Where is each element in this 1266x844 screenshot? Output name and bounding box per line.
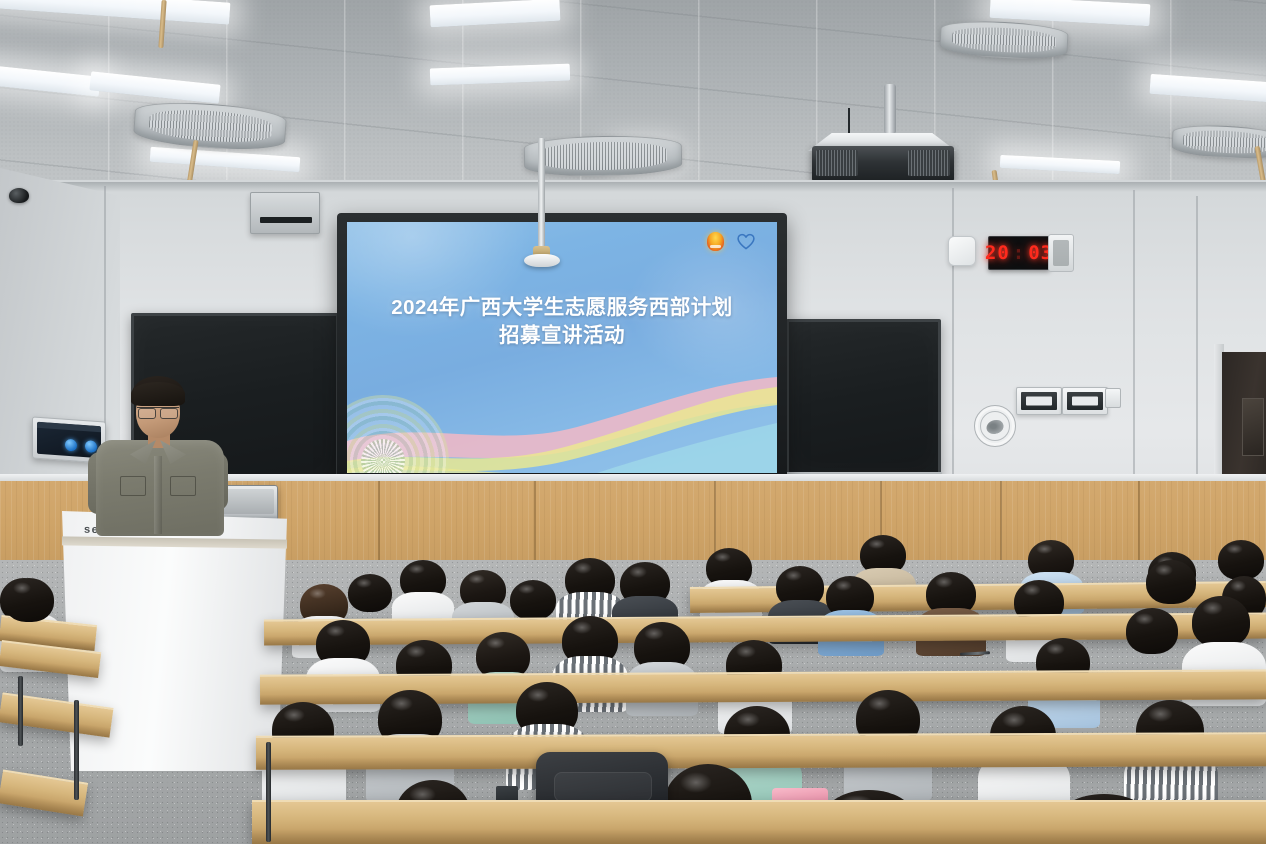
- head: [1126, 608, 1178, 654]
- clock-hours: 20: [985, 242, 1010, 264]
- hanging-microphone-icon: [524, 254, 560, 267]
- wall-equipment-box-label: [1072, 397, 1098, 406]
- hair-highlight: [1148, 706, 1172, 722]
- clock-separator: :: [1013, 242, 1025, 264]
- hair-highlight: [518, 584, 535, 594]
- hair-highlight: [574, 562, 592, 573]
- head: [510, 580, 556, 620]
- audience-member: [1192, 596, 1250, 648]
- presenter: [84, 376, 234, 526]
- hair-highlight: [868, 539, 885, 549]
- wall-equipment-box: [1016, 387, 1062, 415]
- dome-camera-icon: [9, 188, 29, 203]
- hair-highlight: [356, 578, 372, 588]
- head: [4, 578, 54, 622]
- hair-highlight: [13, 582, 31, 593]
- slide-title-line-1: 2024年广西大学生志愿服务西部计划: [347, 294, 777, 322]
- blackboard-right: [786, 319, 941, 476]
- wall-speaker: [250, 192, 320, 234]
- desk-row: [252, 800, 1266, 844]
- presenter-shirt-pocket: [170, 476, 196, 496]
- hair-highlight: [572, 621, 592, 634]
- hair-highlight: [736, 645, 756, 658]
- door-window: [1242, 398, 1264, 456]
- lecture-hall-scene: 20 : 03: [0, 0, 1266, 844]
- presenter-shirt-placket: [154, 456, 162, 534]
- presenter-shirt-pocket: [120, 476, 146, 496]
- hair-highlight: [1226, 544, 1243, 554]
- head: [1192, 596, 1250, 648]
- hair-highlight: [486, 637, 505, 649]
- wifi-access-point: [948, 236, 976, 266]
- audience-member: [1218, 540, 1264, 580]
- hair-highlight: [283, 708, 305, 723]
- audience-member: [4, 578, 54, 622]
- hair-highlight: [680, 772, 712, 793]
- presenter-glasses-icon: [137, 407, 179, 417]
- hair-highlight: [1036, 544, 1053, 554]
- hair-highlight: [868, 696, 891, 711]
- hair-highlight: [835, 580, 852, 591]
- hair-highlight: [468, 574, 485, 584]
- audience-member: [1146, 560, 1196, 604]
- audience-member: [510, 580, 556, 620]
- hanging-microphone-pole: [538, 138, 545, 260]
- desk-support-leg: [266, 742, 271, 842]
- hair-highlight: [1230, 580, 1246, 591]
- hair-highlight: [406, 645, 426, 658]
- hair-highlight: [714, 552, 731, 562]
- hair-highlight: [1202, 601, 1223, 615]
- hair-highlight: [1155, 564, 1173, 575]
- control-panel-button[interactable]: [65, 439, 77, 452]
- desk-support-leg: [18, 676, 23, 746]
- wall-ceiling-shadow: [0, 182, 1266, 192]
- wall-panel-seam: [1196, 196, 1198, 486]
- volunteer-heart-logo-icon: [737, 233, 755, 250]
- university-seal-emblem: [974, 405, 1016, 447]
- projector-mount-pole: [884, 84, 896, 134]
- hair-highlight: [1002, 712, 1026, 728]
- hair-highlight: [408, 564, 425, 574]
- hair-highlight: [629, 566, 647, 577]
- ac-ceiling-diffuser: [524, 135, 683, 178]
- slide-logo-row: [707, 232, 755, 251]
- ceiling-projector: [812, 146, 954, 182]
- slide-title: 2024年广西大学生志愿服务西部计划 招募宣讲活动: [347, 294, 777, 351]
- hair-highlight: [736, 712, 760, 727]
- hair-highlight: [785, 570, 802, 581]
- hair-highlight: [935, 576, 953, 587]
- projection-display[interactable]: 2024年广西大学生志愿服务西部计划 招募宣讲活动: [337, 213, 787, 485]
- head: [348, 574, 392, 612]
- youth-league-emblem-icon: [707, 232, 724, 251]
- hair-highlight: [309, 588, 326, 599]
- wall-mounted-device: [1048, 234, 1074, 272]
- hair-highlight: [1046, 643, 1065, 655]
- hair-highlight: [326, 625, 345, 637]
- hair-highlight: [1135, 613, 1154, 625]
- head: [1146, 560, 1196, 604]
- light-switch[interactable]: [1105, 388, 1121, 408]
- wall-panel-seam: [952, 188, 954, 486]
- hair-highlight: [644, 627, 664, 640]
- desk-support-leg: [74, 700, 79, 800]
- hair-highlight: [390, 696, 413, 711]
- slide-title-line-2: 招募宣讲活动: [347, 322, 777, 350]
- audience-member: [348, 574, 392, 612]
- led-wall-clock: 20 : 03: [988, 236, 1050, 270]
- head: [1218, 540, 1264, 580]
- presenter-hair-front: [131, 382, 185, 406]
- desk-row: [256, 732, 1266, 770]
- wall-equipment-box-label: [1026, 397, 1052, 406]
- audience-member: [1126, 608, 1178, 654]
- hair-highlight: [1023, 584, 1041, 595]
- wall-panel-seam: [1133, 190, 1135, 486]
- wall-equipment-box: [1062, 387, 1108, 415]
- hair-highlight: [527, 688, 549, 703]
- slide-surface: 2024年广西大学生志愿服务西部计划 招募宣讲活动: [347, 222, 777, 473]
